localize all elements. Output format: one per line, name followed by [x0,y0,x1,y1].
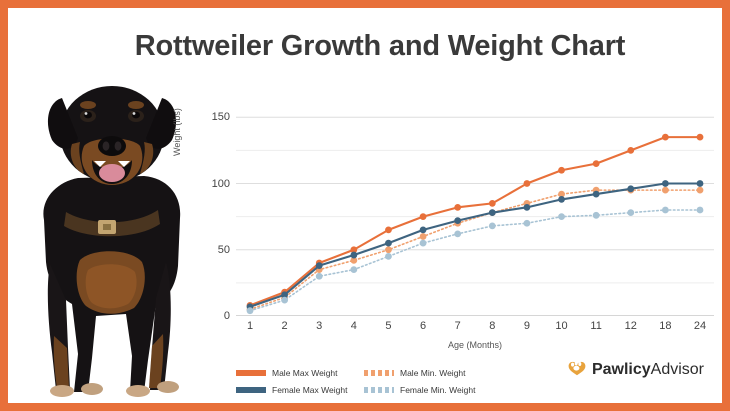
logo-name-light: Advisor [651,361,704,379]
x-tick-label: 10 [555,320,567,332]
y-axis-label: Weight (lbs) [172,72,182,192]
y-tick-label: 100 [196,178,230,190]
growth-chart: Weight (lbs) 050100150 12345678910111218… [178,96,723,346]
legend-item-male-min[interactable]: Male Min. Weight [364,368,466,378]
x-tick-label: 5 [385,320,391,332]
x-tick-label: 1 [247,320,253,332]
y-tick-label: 0 [196,310,230,322]
legend-label-female-max: Female Max Weight [272,385,347,395]
legend-row-male: Male Max Weight Male Min. Weight [236,364,536,381]
x-axis-label: Age (Months) [236,340,714,350]
x-tick-label: 3 [316,320,322,332]
plot-area [236,104,714,316]
legend-label-female-min: Female Min. Weight [400,385,475,395]
x-tick-label: 2 [282,320,288,332]
x-tick-label: 8 [489,320,495,332]
male-max-swatch-icon [236,370,266,376]
legend-label-male-max: Male Max Weight [272,368,338,378]
paw-icon [567,358,587,381]
x-tick-label: 4 [351,320,357,332]
legend-item-male-max[interactable]: Male Max Weight [236,368,364,378]
x-tick-label: 18 [659,320,671,332]
x-tick-label: 24 [694,320,706,332]
logo-name-bold: Pawlicy [592,361,651,379]
male-min-swatch-icon [364,370,394,376]
x-tick-label: 12 [625,320,637,332]
female-max-swatch-icon [236,387,266,393]
pawlicy-advisor-logo[interactable]: Pawlicy Advisor [567,358,704,381]
chart-legend: Male Max Weight Male Min. Weight Female … [236,364,536,398]
y-tick-label: 150 [196,111,230,123]
x-axis-ticks: 1234567891011121824 [236,320,714,338]
infographic-card: Rottweiler Growth and Weight Chart [0,0,730,411]
x-tick-label: 6 [420,320,426,332]
legend-label-male-min: Male Min. Weight [400,368,466,378]
y-tick-label: 50 [196,244,230,256]
legend-item-female-max[interactable]: Female Max Weight [236,385,364,395]
x-tick-label: 9 [524,320,530,332]
legend-item-female-min[interactable]: Female Min. Weight [364,385,475,395]
legend-row-female: Female Max Weight Female Min. Weight [236,381,536,398]
x-tick-label: 7 [455,320,461,332]
female-min-swatch-icon [364,387,394,393]
x-tick-label: 11 [590,320,601,332]
y-axis-ticks: 050100150 [186,104,230,316]
page-title: Rottweiler Growth and Weight Chart [8,30,722,63]
